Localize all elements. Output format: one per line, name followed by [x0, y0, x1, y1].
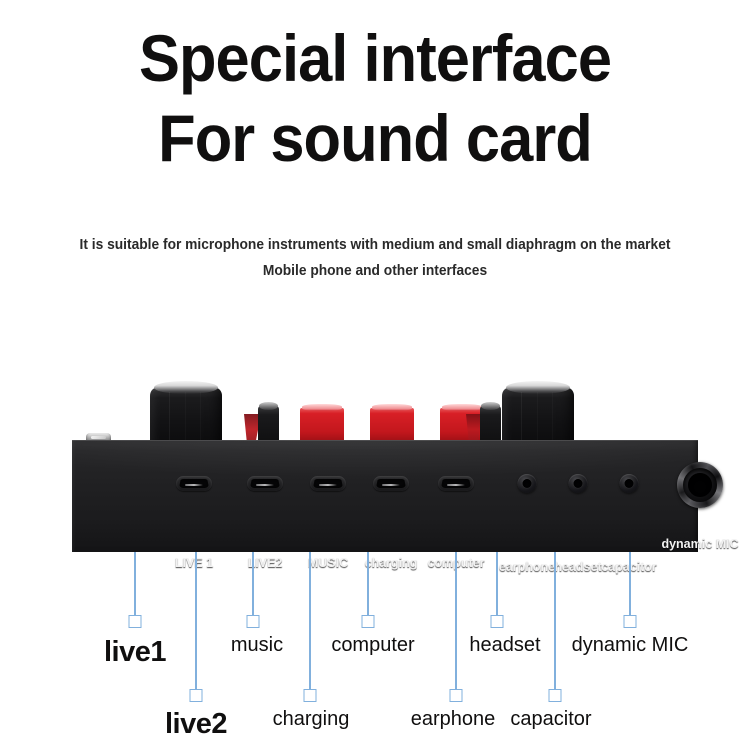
subheadline-line-2: Mobile phone and other interfaces	[19, 258, 732, 284]
subheadline-line-1: It is suitable for microphone instrument…	[19, 232, 732, 258]
panel-label: LIVE2	[248, 556, 283, 570]
panel-label: dynamic MIC	[661, 537, 738, 551]
callout-label: music	[231, 634, 283, 657]
earphone-jack[interactable]	[518, 474, 537, 493]
panel-label: computer	[428, 556, 485, 570]
panel-label: charging	[365, 556, 418, 570]
dynamic-mic-jack[interactable]	[677, 462, 723, 508]
callout-label: computer	[331, 634, 414, 657]
callout-marker	[362, 615, 375, 628]
fader-2[interactable]	[370, 408, 414, 442]
callout-label: live1	[104, 636, 166, 669]
subheadline-block: It is suitable for microphone instrument…	[0, 232, 750, 284]
callout-label: live2	[165, 708, 227, 741]
callout-leader-line	[134, 552, 136, 615]
headline-line-2: For sound card	[26, 98, 724, 178]
sound-card-device: LIVE 1LIVE2MUSICchargingcomputerearphone…	[72, 368, 698, 552]
headline-block: Special interface For sound card	[0, 18, 750, 178]
panel-label: earphone	[499, 560, 555, 574]
callout-marker	[491, 615, 504, 628]
capacitor-jack[interactable]	[620, 474, 639, 493]
callout-marker	[450, 689, 463, 702]
headset-jack[interactable]	[569, 474, 588, 493]
device-top-deck	[72, 368, 698, 450]
headline-line-1: Special interface	[26, 18, 724, 98]
charging-port[interactable]	[373, 476, 409, 491]
live1-port[interactable]	[176, 476, 212, 491]
panel-label: LIVE 1	[175, 556, 213, 570]
callout-marker	[304, 689, 317, 702]
callout-leader-line	[309, 552, 311, 689]
callout-label: dynamic MIC	[572, 634, 689, 657]
callout-marker	[624, 615, 637, 628]
callout-label: capacitor	[510, 708, 591, 731]
callout-label: earphone	[411, 708, 496, 731]
callout-label: charging	[273, 708, 350, 731]
panel-label: headset	[554, 560, 601, 574]
panel-label: capacitor	[601, 560, 657, 574]
fader-1[interactable]	[300, 408, 344, 442]
callout-leader-line	[496, 552, 498, 615]
panel-label: MUSIC	[308, 556, 348, 570]
callout-marker	[549, 689, 562, 702]
music-port[interactable]	[310, 476, 346, 491]
callout-marker	[190, 689, 203, 702]
callout-label: headset	[469, 634, 540, 657]
callout-marker	[129, 615, 142, 628]
callout-leader-line	[195, 552, 197, 689]
callout-leader-line	[455, 552, 457, 689]
device-faceplate: LIVE 1LIVE2MUSICchargingcomputerearphone…	[72, 440, 698, 552]
computer-port[interactable]	[438, 476, 474, 491]
live2-port[interactable]	[247, 476, 283, 491]
callout-marker	[247, 615, 260, 628]
